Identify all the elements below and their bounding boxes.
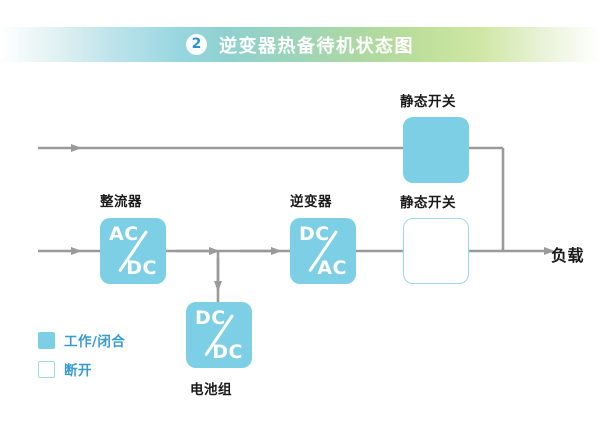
block-static-switch-bypass[interactable] <box>403 117 469 183</box>
battery-symbol-text: DC DC <box>186 302 252 368</box>
legend-label-active: 工作/闭合 <box>64 330 125 350</box>
label-load: 负载 <box>551 242 584 266</box>
legend-swatch-filled <box>38 332 55 349</box>
inverter-bottom-text: AC <box>317 257 347 279</box>
label-inverter: 逆变器 <box>290 190 332 210</box>
label-static-switch-bottom: 静态开关 <box>400 191 456 211</box>
inverter-top-text: DC <box>299 223 330 245</box>
diagram-page: 2 逆变器热备待机状态图 <box>0 0 600 428</box>
block-static-switch-output[interactable] <box>403 218 469 284</box>
label-battery: 电池组 <box>190 378 232 398</box>
battery-top-text: DC <box>195 307 226 329</box>
rectifier-symbol-text: AC DC <box>100 218 166 284</box>
label-rectifier: 整流器 <box>100 190 142 210</box>
legend-swatch-open <box>38 361 55 378</box>
rectifier-top-text: AC <box>109 223 139 245</box>
legend-item-active: 工作/闭合 <box>38 330 125 350</box>
label-static-switch-top: 静态开关 <box>400 90 456 110</box>
battery-bottom-text: DC <box>212 341 243 363</box>
rectifier-bottom-text: DC <box>126 257 157 279</box>
legend-item-open: 断开 <box>38 359 125 379</box>
inverter-symbol-text: DC AC <box>290 218 356 284</box>
block-inverter[interactable]: DC AC <box>290 218 356 284</box>
legend: 工作/闭合 断开 <box>38 330 125 388</box>
block-battery[interactable]: DC DC <box>186 302 252 368</box>
legend-label-open: 断开 <box>64 359 92 379</box>
block-rectifier[interactable]: AC DC <box>100 218 166 284</box>
